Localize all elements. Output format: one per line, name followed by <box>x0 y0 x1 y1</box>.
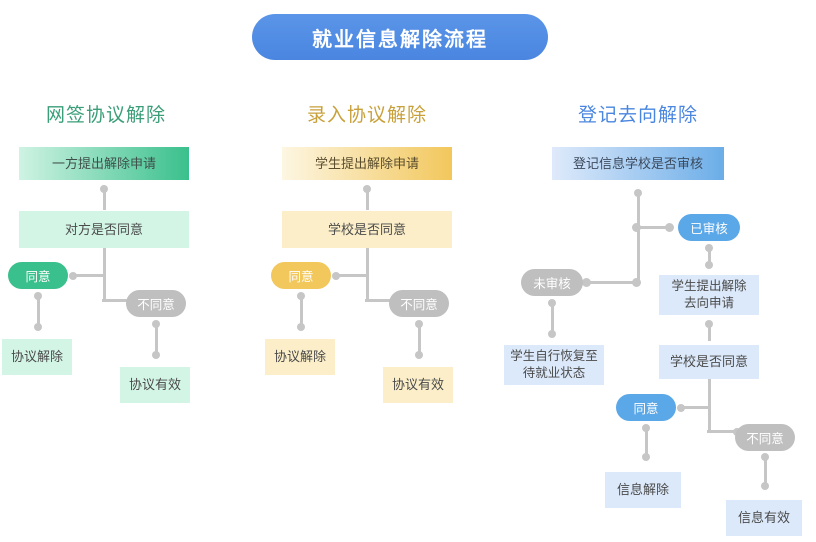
column-heading-2: 录入协议解除 <box>281 100 453 127</box>
column-heading-1-label: 网签协议解除 <box>46 105 166 126</box>
node-c3-yes-result-label: 信息解除 <box>617 481 669 499</box>
pill-c1-no: 不同意 <box>126 290 186 317</box>
connector-c1-no-result <box>155 323 158 353</box>
connector-c3-trunk <box>708 379 711 431</box>
pill-c3-yes-label: 同意 <box>633 398 658 417</box>
node-c3-unreviewed-result: 学生自行恢复至 待就业状态 <box>504 345 604 385</box>
pill-c3-yes: 同意 <box>616 394 676 421</box>
node-c1-decision: 对方是否同意 <box>19 211 189 248</box>
pill-c2-yes-label: 同意 <box>288 266 313 285</box>
node-c1-start-label: 一方提出解除申请 <box>52 155 156 173</box>
column-heading-1: 网签协议解除 <box>20 100 192 127</box>
connector-dot <box>332 272 340 280</box>
pill-c1-no-label: 不同意 <box>137 294 175 313</box>
connector-c1-yes-result <box>37 295 40 325</box>
connector-c3-no-result <box>764 456 767 484</box>
node-c3-decision: 学校是否同意 <box>659 345 759 379</box>
connector-dot <box>761 482 769 490</box>
connector-dot <box>548 330 556 338</box>
connector-c3-yes-result <box>645 427 648 455</box>
pill-c1-yes: 同意 <box>8 262 68 289</box>
pill-c2-no: 不同意 <box>389 290 449 317</box>
connector-c3-branch-unreviewed <box>586 281 638 284</box>
node-c3-start-label: 登记信息学校是否审核 <box>573 155 703 173</box>
pill-c3-no: 不同意 <box>735 424 795 451</box>
connector-dot <box>34 323 42 331</box>
node-c3-unreviewed-result-line1: 学生自行恢复至 <box>510 348 598 365</box>
connector-c3-apply-decision <box>708 323 711 341</box>
flowchart-canvas: 就业信息解除流程 网签协议解除 一方提出解除申请 对方是否同意 同意 不同意 协… <box>0 0 816 542</box>
node-c1-yes-result: 协议解除 <box>2 339 72 375</box>
node-c2-start-label: 学生提出解除申请 <box>315 155 419 173</box>
node-c2-yes-result: 协议解除 <box>265 339 335 375</box>
column-heading-3: 登记去向解除 <box>547 100 729 127</box>
connector-c2-start-decision <box>366 188 369 210</box>
node-c3-apply-line1: 学生提出解除 <box>671 278 746 295</box>
pill-c3-no-label: 不同意 <box>746 428 784 447</box>
pill-c3-unreviewed-label: 未审核 <box>533 273 571 292</box>
connector-c2-yes-result <box>300 295 303 325</box>
node-c3-apply-line2: 去向申请 <box>684 295 734 312</box>
pill-c3-reviewed-label: 已审核 <box>690 218 728 237</box>
node-c2-decision-label: 学校是否同意 <box>328 221 406 239</box>
connector-dot <box>152 351 160 359</box>
connector-c3-audit-trunk <box>637 192 640 284</box>
page-title-label: 就业信息解除流程 <box>312 23 488 52</box>
connector-dot <box>677 404 685 412</box>
connector-c3-unreviewed-result <box>551 302 554 332</box>
connector-dot <box>632 278 641 287</box>
node-c2-no-result: 协议有效 <box>383 367 453 403</box>
node-c2-start: 学生提出解除申请 <box>282 147 452 180</box>
node-c2-no-result-label: 协议有效 <box>392 376 444 394</box>
node-c2-yes-result-label: 协议解除 <box>274 348 326 366</box>
node-c3-unreviewed-result-line2: 待就业状态 <box>523 365 586 382</box>
node-c2-decision: 学校是否同意 <box>282 211 452 248</box>
connector-dot <box>642 453 650 461</box>
node-c3-no-result: 信息有效 <box>726 500 802 536</box>
pill-c1-yes-label: 同意 <box>25 266 50 285</box>
node-c1-no-result-label: 协议有效 <box>129 376 181 394</box>
pill-c2-no-label: 不同意 <box>400 294 438 313</box>
node-c1-no-result: 协议有效 <box>120 367 190 403</box>
node-c1-decision-label: 对方是否同意 <box>65 221 143 239</box>
node-c1-start: 一方提出解除申请 <box>19 147 189 180</box>
connector-dot <box>582 278 591 287</box>
connector-dot <box>632 223 641 232</box>
connector-dot <box>415 351 423 359</box>
pill-c2-yes: 同意 <box>271 262 331 289</box>
node-c3-decision-label: 学校是否同意 <box>670 353 748 371</box>
column-heading-3-label: 登记去向解除 <box>578 105 698 126</box>
column-heading-2-label: 录入协议解除 <box>307 105 427 126</box>
page-title: 就业信息解除流程 <box>252 14 548 60</box>
connector-c1-start-decision <box>103 188 106 210</box>
pill-c3-unreviewed: 未审核 <box>521 269 583 296</box>
connector-dot <box>665 223 674 232</box>
connector-c2-no-result <box>418 323 421 353</box>
connector-dot <box>297 323 305 331</box>
connector-dot <box>705 261 713 269</box>
node-c3-no-result-label: 信息有效 <box>738 509 790 527</box>
pill-c3-reviewed: 已审核 <box>678 214 740 241</box>
node-c3-apply: 学生提出解除 去向申请 <box>659 275 759 315</box>
connector-dot <box>69 272 77 280</box>
node-c3-start: 登记信息学校是否审核 <box>552 147 724 180</box>
node-c3-yes-result: 信息解除 <box>605 472 681 508</box>
node-c1-yes-result-label: 协议解除 <box>11 348 63 366</box>
